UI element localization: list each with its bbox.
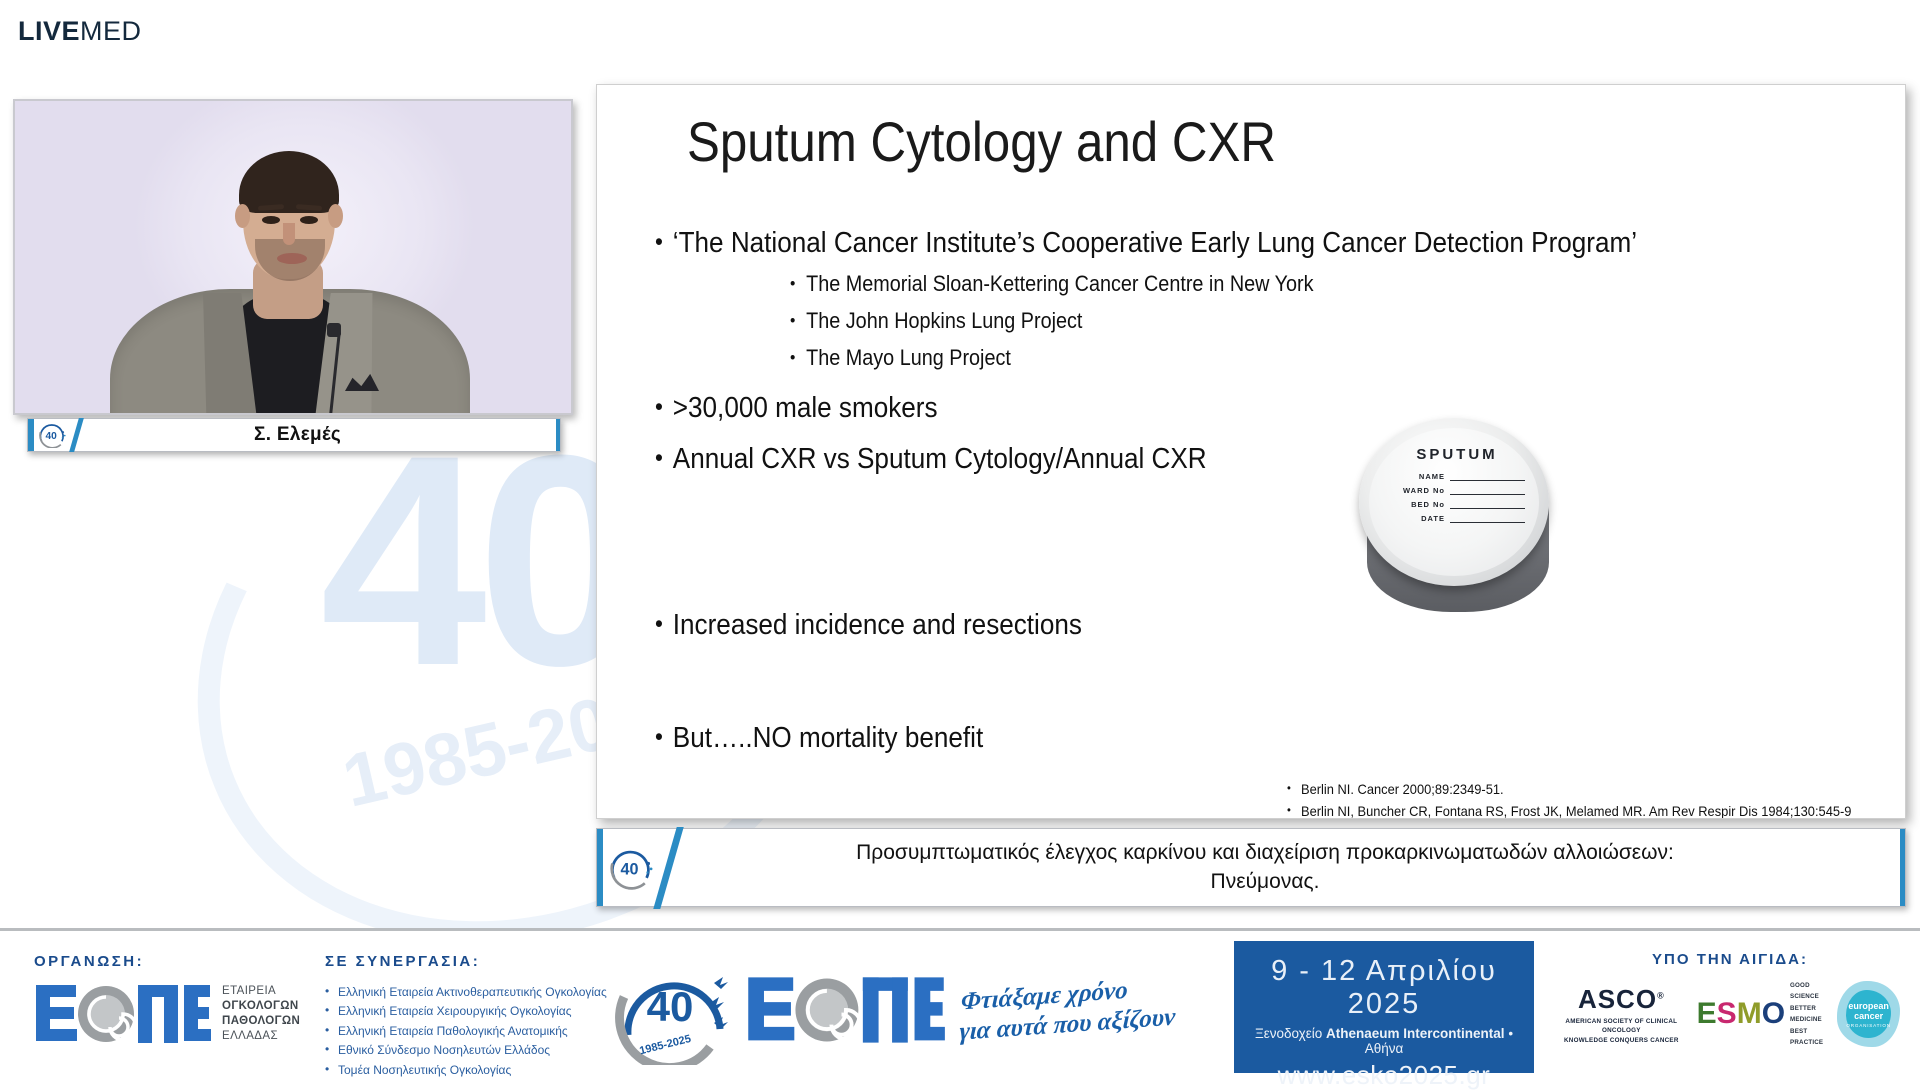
eope-word-1: ΕΤΑΙΡΕΙΑ (222, 984, 300, 999)
session-bar-accent-right (1900, 829, 1905, 906)
event-venue: Ξενοδοχείο Athenaeum Intercontinental • … (1234, 1026, 1534, 1056)
aegis-logos: ASCO® AMERICAN SOCIETY OF CLINICAL ONCOL… (1560, 980, 1900, 1049)
sputum-label-fields: NAME WARD No BED No DATE (1389, 472, 1525, 523)
event-info-panel[interactable]: 9 - 12 Απριλίου 2025 Ξενοδοχείο Athenaeu… (1234, 941, 1534, 1073)
slide-citation-1: •Berlin NI. Cancer 2000;89:2349-51. (1287, 781, 1504, 797)
svg-text:40: 40 (46, 431, 58, 442)
aegis-heading: ΥΠΟ ΤΗΝ ΑΙΓΙΔΑ: (1560, 951, 1900, 968)
watermark-number: 40 (320, 410, 634, 710)
sputum-field-line (1450, 515, 1525, 523)
sputum-container-image: SPUTUM NAME WARD No BED No (1359, 418, 1555, 618)
slide-bullet-5: •But…..NO mortality benefit (655, 722, 983, 755)
slide-subbullet-2: •The John Hopkins Lung Project (790, 308, 1082, 334)
sputum-field-row: BED No (1389, 500, 1525, 509)
speaker-eye-left (262, 216, 280, 224)
session-title-line1: Προσυμπτωματικός έλεγχος καρκίνου και δι… (682, 839, 1848, 867)
sputum-field-label: DATE (1389, 514, 1450, 523)
eco-line-1: european (1848, 1001, 1889, 1012)
eco-line-2: cancer (1854, 1011, 1883, 1022)
cooperation-item: Ελληνική Εταιρεία Παθολογικής Ανατομικής (325, 1022, 607, 1041)
speaker-bar-accent-right (556, 419, 560, 451)
esmo-letter-m: M (1737, 999, 1762, 1029)
eope-full-name: ΕΤΑΙΡΕΙΑ ΟΓΚΟΛΟΓΩΝ ΠΑΘΟΛΟΓΩΝ ΕΛΛΑΔΑΣ (222, 984, 300, 1045)
venue-prefix: Ξενοδοχείο (1255, 1026, 1326, 1041)
sputum-field-label: WARD No (1389, 486, 1450, 495)
registered-icon: ® (1657, 990, 1665, 1000)
speaker-ear-right (328, 204, 343, 228)
esmo-letter-e: E (1697, 999, 1717, 1029)
sputum-field-row: NAME (1389, 472, 1525, 481)
anniversary-slogan: Φτιάξαμε χρόνο για αυτά που αξίζουν (959, 972, 1178, 1047)
slide-body: •‘The National Cancer Institute’s Cooper… (597, 85, 1905, 818)
esmo-letters: E S M O (1697, 999, 1785, 1029)
session-title-line2: Πνεύμονας. (682, 868, 1848, 896)
livemed-logo-bold: LIVE (18, 16, 80, 46)
slide-bullet-2: •>30,000 male smokers (655, 392, 938, 425)
session-title: Προσυμπτωματικός έλεγχος καρκίνου και δι… (682, 839, 1900, 896)
sputum-field-line (1450, 501, 1525, 509)
sputum-jar-label: SPUTUM NAME WARD No BED No (1389, 446, 1525, 528)
eope-word-2: ΟΓΚΟΛΟΓΩΝ (222, 999, 300, 1014)
speaker-name: Σ. Ελεμές (83, 424, 556, 446)
bullet-dot-icon: • (655, 610, 663, 638)
asco-tagline-line1: AMERICAN SOCIETY OF CLINICAL ONCOLOGY (1560, 1017, 1683, 1036)
bullet-dot-icon: • (655, 444, 663, 472)
slide-citation-2: •Berlin NI, Buncher CR, Fontana RS, Fros… (1287, 803, 1851, 819)
livemed-logo: LIVEMED (18, 16, 142, 47)
anniversary-40-icon: 40 (603, 829, 665, 906)
organizer-heading: ΟΡΓΑΝΩΣΗ: (34, 953, 144, 970)
svg-text:40: 40 (620, 860, 638, 878)
eope-logo: ΕΤΑΙΡΕΙΑ ΟΓΚΟΛΟΓΩΝ ΠΑΘΟΛΟΓΩΝ ΕΛΛΑΔΑΣ (34, 983, 300, 1045)
esmo-tagline-line2: BETTER MEDICINE (1790, 1003, 1823, 1026)
event-url[interactable]: www.esko2025.gr (1234, 1060, 1534, 1091)
cooperation-subitem: Τομέα Νοσηλευτικής Ογκολογίας (325, 1061, 607, 1080)
svg-text:40: 40 (647, 983, 694, 1030)
bullet-dot-icon: • (655, 723, 663, 751)
esmo-letter-o: O (1762, 999, 1785, 1029)
cooperation-item: Ελληνική Εταιρεία Χειρουργικής Ογκολογία… (325, 1002, 607, 1021)
sputum-label-title: SPUTUM (1389, 446, 1525, 463)
bullet-dot-icon: • (655, 228, 663, 256)
eco-line-3: ORGANISATION (1846, 1023, 1890, 1028)
presentation-slide[interactable]: Sputum Cytology and CXR •‘The National C… (596, 84, 1906, 819)
sputum-jar-lid: SPUTUM NAME WARD No BED No (1359, 418, 1549, 586)
session-title-bar: 40 Προσυμπτωματικός έλεγχος καρκίνου και… (596, 828, 1906, 907)
anniversary-eope-lockup: 40 1985-2025 Φτιάξαμε χρόνο για αυτά που… (614, 955, 1176, 1065)
sputum-field-label: BED No (1389, 500, 1450, 509)
bullet-dot-icon: • (790, 274, 795, 293)
esmo-tagline: GOOD SCIENCE BETTER MEDICINE BEST PRACTI… (1790, 980, 1823, 1049)
eope-word-4: ΕΛΛΑΔΑΣ (222, 1029, 300, 1044)
svg-text:1985-2025: 1985-2025 (638, 1033, 692, 1057)
cooperation-item: Εθνικό Σύνδεσμο Νοσηλευτών Ελλάδος (325, 1041, 607, 1060)
speaker-name-bar: 40 Σ. Ελεμές (27, 418, 561, 452)
cooperation-item: Ελληνική Εταιρεία Ακτινοθεραπευτικής Ογκ… (325, 983, 607, 1002)
speaker-nose (283, 223, 295, 245)
slide-bullet-1: •‘The National Cancer Institute’s Cooper… (655, 227, 1637, 260)
esmo-tagline-line1: GOOD SCIENCE (1790, 980, 1823, 1003)
asco-tagline-line2: KNOWLEDGE CONQUERS CANCER (1560, 1036, 1683, 1045)
asco-name: ASCO® (1560, 984, 1683, 1015)
sputum-field-row: DATE (1389, 514, 1525, 523)
bullet-dot-icon: • (655, 393, 663, 421)
slide-bullet-3: •Annual CXR vs Sputum Cytology/Annual CX… (655, 443, 1207, 476)
esmo-tagline-line3: BEST PRACTICE (1790, 1026, 1823, 1049)
european-cancer-organisation-logo: european cancer ORGANISATION (1837, 981, 1900, 1047)
sputum-field-line (1450, 487, 1525, 495)
speaker-ear-left (235, 204, 250, 228)
asco-tagline: AMERICAN SOCIETY OF CLINICAL ONCOLOGY KN… (1560, 1017, 1683, 1045)
slide-subbullet-1: •The Memorial Sloan-Kettering Cancer Cen… (790, 271, 1314, 297)
esmo-logo: E S M O GOOD SCIENCE BETTER MEDICINE BES… (1697, 980, 1824, 1049)
sputum-field-row: WARD No (1389, 486, 1525, 495)
cooperation-list: Ελληνική Εταιρεία Ακτινοθεραπευτικής Ογκ… (325, 983, 607, 1080)
slide-subbullet-3: •The Mayo Lung Project (790, 345, 1011, 371)
eco-text: european cancer ORGANISATION (1837, 981, 1900, 1047)
eope-word-3: ΠΑΘΟΛΟΓΩΝ (222, 1014, 300, 1029)
bullet-dot-icon: • (1287, 803, 1291, 817)
asco-logo: ASCO® AMERICAN SOCIETY OF CLINICAL ONCOL… (1560, 984, 1683, 1045)
bullet-dot-icon: • (1287, 781, 1291, 795)
eope-big-icon (746, 975, 946, 1045)
aegis-section: ΥΠΟ ΤΗΝ ΑΙΓΙΔΑ: ASCO® AMERICAN SOCIETY O… (1560, 951, 1900, 1049)
footer-sponsor-bar: ΟΡΓΑΝΩΣΗ: ΕΤΑΙΡΕΙΑ ΟΓΚΟΛΟΓΩΝ ΠΑΘΟΛΟΓΩΝ Ε… (0, 928, 1920, 1083)
sputum-field-line (1450, 473, 1525, 481)
bullet-dot-icon: • (790, 348, 795, 367)
sputum-field-label: NAME (1389, 472, 1450, 481)
cooperation-heading: ΣΕ ΣΥΝΕΡΓΑΣΙΑ: (325, 953, 480, 970)
anniversary-40-big-icon: 40 1985-2025 (614, 955, 742, 1065)
speaker-eye-right (300, 216, 318, 224)
event-dates: 9 - 12 Απριλίου 2025 (1234, 955, 1534, 1021)
livemed-logo-light: MED (80, 16, 142, 46)
speaker-video[interactable] (13, 99, 573, 415)
slide-bullet-4: •Increased incidence and resections (655, 609, 1082, 642)
venue-name: Athenaeum Intercontinental (1326, 1026, 1505, 1041)
bullet-dot-icon: • (790, 311, 795, 330)
speaker-mouth (277, 253, 307, 264)
anniversary-40-icon: 40 (34, 419, 74, 451)
esmo-letter-s: S (1717, 999, 1737, 1029)
eope-acronym-icon (34, 983, 212, 1045)
